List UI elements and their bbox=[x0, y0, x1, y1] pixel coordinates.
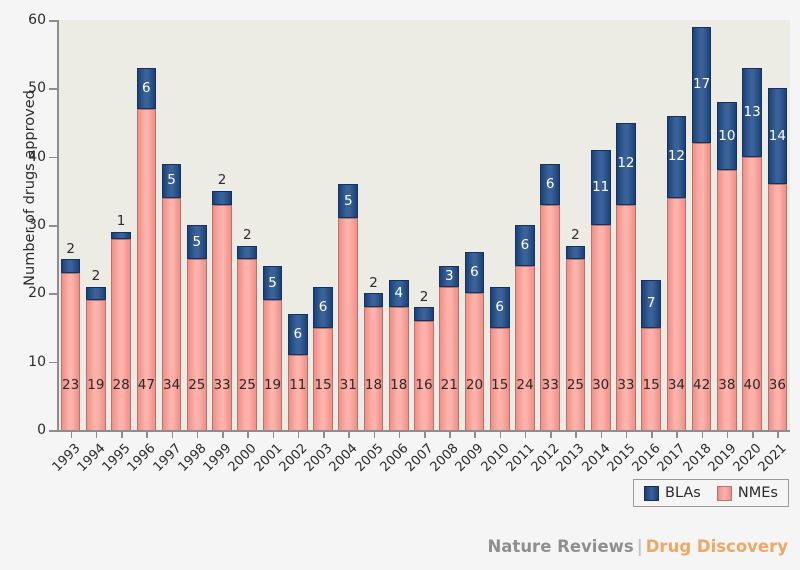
y-axis-tick bbox=[49, 293, 57, 295]
x-axis-tick bbox=[172, 431, 174, 438]
bar-segment-bla[interactable] bbox=[667, 116, 687, 198]
bar-group[interactable]: 476 bbox=[137, 20, 157, 430]
bar-segment-nme[interactable] bbox=[263, 300, 283, 430]
bar-segment-nme[interactable] bbox=[389, 307, 409, 430]
x-axis-tick bbox=[777, 431, 779, 438]
x-axis-tick bbox=[121, 431, 123, 438]
footer-credit: Nature Reviews|Drug Discovery bbox=[487, 537, 788, 556]
bar-group[interactable]: 4013 bbox=[742, 20, 762, 430]
bar-label-bla: 2 bbox=[237, 229, 257, 243]
bar-segment-bla[interactable] bbox=[465, 252, 485, 293]
bar-segment-bla[interactable] bbox=[566, 246, 586, 260]
x-axis-tick bbox=[575, 431, 577, 438]
bar-segment-bla[interactable] bbox=[616, 123, 636, 205]
x-axis-tick bbox=[702, 431, 704, 438]
x-axis-tick bbox=[449, 431, 451, 438]
bar-group[interactable]: 246 bbox=[515, 20, 535, 430]
bar-segment-nme[interactable] bbox=[313, 328, 333, 431]
bar-segment-nme[interactable] bbox=[616, 205, 636, 431]
bar-segment-bla[interactable] bbox=[237, 246, 257, 260]
y-axis-tick-label: 60 bbox=[6, 13, 46, 27]
plot-area: 2321922814763452553322521951161563151821… bbox=[58, 20, 790, 430]
bar-segment-bla[interactable] bbox=[313, 287, 333, 328]
bar-segment-bla[interactable] bbox=[692, 27, 712, 143]
y-axis-title: Number of drugs approved bbox=[22, 68, 38, 308]
bar-segment-bla[interactable] bbox=[641, 280, 661, 328]
bar-segment-nme[interactable] bbox=[111, 239, 131, 430]
bar-segment-bla[interactable] bbox=[742, 68, 762, 157]
x-axis-tick bbox=[399, 431, 401, 438]
bar-segment-nme[interactable] bbox=[212, 205, 232, 431]
bar-group[interactable]: 3810 bbox=[717, 20, 737, 430]
bar-segment-bla[interactable] bbox=[288, 314, 308, 355]
bar-group[interactable]: 252 bbox=[566, 20, 586, 430]
bar-label-bla: 2 bbox=[364, 277, 384, 291]
x-axis-tick bbox=[323, 431, 325, 438]
y-axis-tick bbox=[49, 20, 57, 22]
bar-group[interactable]: 336 bbox=[540, 20, 560, 430]
bar-group[interactable]: 182 bbox=[364, 20, 384, 430]
bar-segment-nme[interactable] bbox=[162, 198, 182, 430]
bar-segment-nme[interactable] bbox=[768, 184, 788, 430]
x-axis-tick bbox=[298, 431, 300, 438]
x-axis-tick bbox=[348, 431, 350, 438]
bar-label-bla: 2 bbox=[86, 270, 106, 284]
bar-group[interactable]: 162 bbox=[414, 20, 434, 430]
bar-group[interactable]: 255 bbox=[187, 20, 207, 430]
bar-segment-bla[interactable] bbox=[439, 266, 459, 287]
bar-segment-nme[interactable] bbox=[364, 307, 384, 430]
x-axis-tick bbox=[525, 431, 527, 438]
bar-label-bla: 1 bbox=[111, 215, 131, 229]
bar-segment-bla[interactable] bbox=[111, 232, 131, 239]
bar-segment-bla[interactable] bbox=[137, 68, 157, 109]
bar-label-bla: 2 bbox=[61, 243, 81, 257]
bar-segment-nme[interactable] bbox=[86, 300, 106, 430]
bar-group[interactable]: 315 bbox=[338, 20, 358, 430]
bar-group[interactable]: 332 bbox=[212, 20, 232, 430]
x-axis-tick bbox=[500, 431, 502, 438]
bar-group[interactable]: 3412 bbox=[667, 20, 687, 430]
bar-label-bla: 2 bbox=[212, 174, 232, 188]
y-axis-tick bbox=[49, 157, 57, 159]
bar-segment-bla[interactable] bbox=[364, 293, 384, 307]
footer-journal-name: Drug Discovery bbox=[646, 537, 788, 556]
bar-group[interactable]: 3011 bbox=[591, 20, 611, 430]
chart-legend: BLAsNMEs bbox=[633, 479, 789, 507]
bar-segment-bla[interactable] bbox=[61, 259, 81, 273]
bar-segment-bla[interactable] bbox=[717, 102, 737, 170]
bar-segment-nme[interactable] bbox=[465, 293, 485, 430]
bar-segment-nme[interactable] bbox=[187, 259, 207, 430]
bar-segment-bla[interactable] bbox=[86, 287, 106, 301]
x-axis-tick bbox=[676, 431, 678, 438]
bar-group[interactable]: 213 bbox=[439, 20, 459, 430]
x-axis-tick bbox=[222, 431, 224, 438]
bar-group[interactable]: 252 bbox=[237, 20, 257, 430]
x-axis-tick bbox=[96, 431, 98, 438]
bar-group[interactable]: 156 bbox=[313, 20, 333, 430]
bar-segment-nme[interactable] bbox=[515, 266, 535, 430]
chart-figure: 2321922814763452553322521951161563151821… bbox=[0, 0, 800, 570]
bar-segment-nme[interactable] bbox=[237, 259, 257, 430]
bar-group[interactable]: 116 bbox=[288, 20, 308, 430]
bar-group[interactable]: 192 bbox=[86, 20, 106, 430]
bar-segment-nme[interactable] bbox=[742, 157, 762, 430]
legend-swatch-icon bbox=[644, 486, 659, 501]
x-axis-tick bbox=[424, 431, 426, 438]
bar-segment-nme[interactable] bbox=[591, 225, 611, 430]
bar-group[interactable]: 206 bbox=[465, 20, 485, 430]
bar-segment-nme[interactable] bbox=[540, 205, 560, 431]
bar-segment-nme[interactable] bbox=[717, 170, 737, 430]
bar-segment-bla[interactable] bbox=[414, 307, 434, 321]
bar-segment-nme[interactable] bbox=[490, 328, 510, 431]
bar-group[interactable]: 157 bbox=[641, 20, 661, 430]
x-axis-tick bbox=[146, 431, 148, 438]
y-axis-tick bbox=[49, 225, 57, 227]
legend-entry-blas[interactable]: BLAs bbox=[644, 485, 701, 501]
bar-segment-nme[interactable] bbox=[338, 218, 358, 430]
bar-segment-bla[interactable] bbox=[187, 225, 207, 259]
bar-segment-bla[interactable] bbox=[490, 287, 510, 328]
bar-segment-bla[interactable] bbox=[338, 184, 358, 218]
bar-group[interactable]: 3614 bbox=[768, 20, 788, 430]
legend-entry-nmes[interactable]: NMEs bbox=[717, 485, 778, 501]
bar-segment-nme[interactable] bbox=[692, 143, 712, 430]
bar-segment-bla[interactable] bbox=[768, 88, 788, 184]
bar-segment-nme[interactable] bbox=[414, 321, 434, 430]
bar-segment-bla[interactable] bbox=[162, 164, 182, 198]
y-axis-tick bbox=[49, 362, 57, 364]
bar-segment-nme[interactable] bbox=[566, 259, 586, 430]
x-axis-tick bbox=[626, 431, 628, 438]
bar-segment-bla[interactable] bbox=[591, 150, 611, 225]
x-axis-tick bbox=[727, 431, 729, 438]
bar-segment-nme[interactable] bbox=[137, 109, 157, 430]
bar-segment-nme[interactable] bbox=[667, 198, 687, 430]
bar-segment-bla[interactable] bbox=[212, 191, 232, 205]
y-axis-line bbox=[57, 20, 59, 430]
bar-group[interactable]: 3312 bbox=[616, 20, 636, 430]
x-axis-tick bbox=[474, 431, 476, 438]
bar-group[interactable]: 184 bbox=[389, 20, 409, 430]
bar-segment-bla[interactable] bbox=[389, 280, 409, 307]
bar-segment-nme[interactable] bbox=[439, 287, 459, 431]
legend-swatch-icon bbox=[717, 486, 732, 501]
bar-group[interactable]: 4217 bbox=[692, 20, 712, 430]
legend-label: BLAs bbox=[665, 485, 701, 501]
x-axis-tick bbox=[197, 431, 199, 438]
x-axis-tick bbox=[247, 431, 249, 438]
bar-group[interactable]: 156 bbox=[490, 20, 510, 430]
bar-segment-nme[interactable] bbox=[641, 328, 661, 431]
bar-group[interactable]: 345 bbox=[162, 20, 182, 430]
bar-segment-bla[interactable] bbox=[263, 266, 283, 300]
bar-segment-nme[interactable] bbox=[288, 355, 308, 430]
bar-segment-nme[interactable] bbox=[61, 273, 81, 430]
x-axis-tick bbox=[273, 431, 275, 438]
bar-group[interactable]: 281 bbox=[111, 20, 131, 430]
y-axis-tick bbox=[49, 88, 57, 90]
bar-segment-bla[interactable] bbox=[540, 164, 560, 205]
y-axis-tick bbox=[49, 430, 57, 432]
footer-brand: Nature Reviews bbox=[487, 537, 633, 556]
x-axis-tick bbox=[601, 431, 603, 438]
bar-label-bla: 2 bbox=[566, 229, 586, 243]
bar-segment-bla[interactable] bbox=[515, 225, 535, 266]
bar-label-bla: 2 bbox=[414, 291, 434, 305]
bar-group[interactable]: 195 bbox=[263, 20, 283, 430]
x-axis-tick bbox=[374, 431, 376, 438]
y-axis-tick-label: 0 bbox=[6, 423, 46, 437]
x-axis-tick bbox=[752, 431, 754, 438]
x-axis-tick bbox=[550, 431, 552, 438]
y-axis-tick-label: 10 bbox=[6, 355, 46, 369]
footer-separator: | bbox=[634, 537, 646, 556]
x-axis-tick bbox=[651, 431, 653, 438]
x-axis-tick bbox=[71, 431, 73, 438]
legend-label: NMEs bbox=[738, 485, 778, 501]
bar-group[interactable]: 232 bbox=[61, 20, 81, 430]
